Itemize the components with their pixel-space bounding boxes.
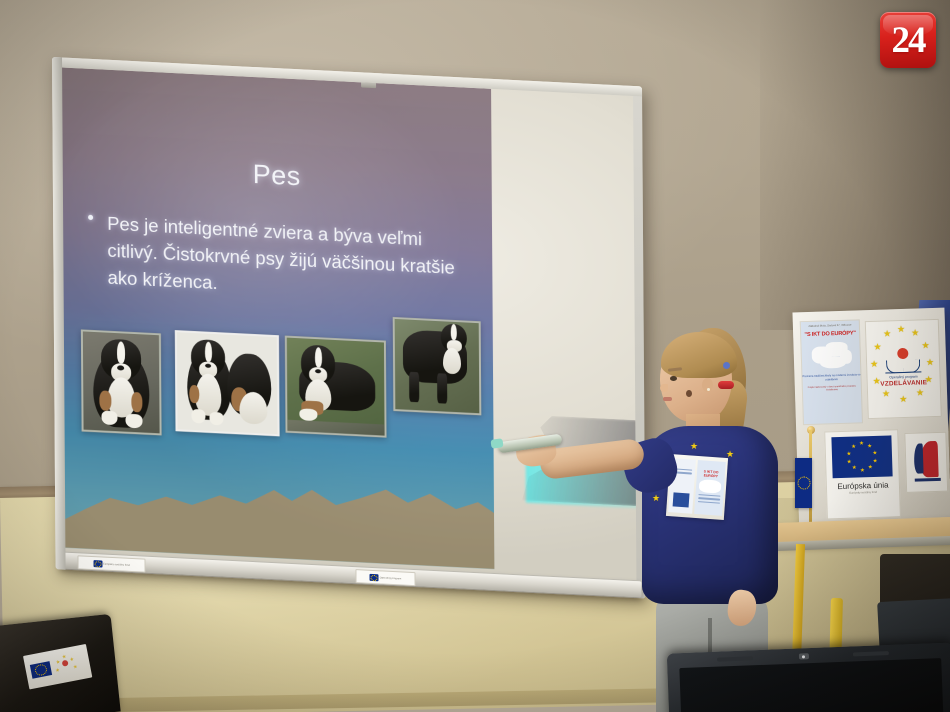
tray-sticker-left-text: Európsky sociálny fond (103, 562, 130, 566)
laptop-foreground-right (667, 642, 950, 712)
eu-flag-mini-icon (93, 560, 102, 567)
slide-photo-strip (73, 303, 494, 449)
tshirt-print-right-panel: S IKT DO EURÓPY (694, 460, 726, 516)
tray-sticker-left: Európsky sociálny fond (77, 555, 145, 572)
tshirt-print-blue-block (673, 492, 690, 507)
hair-clip (723, 362, 730, 369)
eye (670, 376, 677, 381)
channel-24-logo: 24 (880, 12, 936, 68)
tray-sticker-right-text: Operačný program (380, 576, 402, 580)
shirt-star-icon-3: ★ (652, 494, 660, 503)
shirt-star-icon-4: ★ (690, 442, 698, 451)
earring (707, 388, 710, 391)
tshirt-print-title: S IKT DO EURÓPY (697, 469, 725, 479)
lips (663, 397, 672, 401)
board-clip (361, 80, 376, 88)
whiteboard-surface[interactable]: Pes Pes je inteligentné zviera a býva ve… (61, 67, 636, 580)
hair-tie (718, 381, 734, 389)
laptop-foreground-left: ★ ★ ★ ★ ★ (0, 613, 125, 712)
slide-photo-1 (81, 329, 162, 435)
webcam-icon (799, 653, 809, 659)
whiteboard-frame: Pes Pes je inteligentné zviera a býva ve… (52, 57, 646, 599)
interactive-whiteboard[interactable]: Pes Pes je inteligentné zviera a býva ve… (52, 57, 646, 599)
eu-flag-mini-icon-2 (370, 573, 379, 580)
slide-photo-3 (285, 336, 387, 438)
program-logo-sticker-icon: ★ ★ ★ ★ ★ (53, 653, 78, 677)
slide-photo-4 (393, 317, 482, 415)
bullet-dot-icon (88, 215, 93, 220)
slide-photo-2 (175, 330, 280, 436)
eu-flag-sticker-icon (30, 661, 52, 679)
shirt-star-icon-5: ★ (726, 450, 734, 459)
tray-sticker-right: Operačný program (355, 569, 415, 586)
laptop-screen (679, 658, 943, 712)
logo-24-text: 24 (892, 22, 925, 59)
slide-mountain-graphic (64, 462, 495, 569)
nose (660, 384, 668, 392)
photo-scene: Základná škola, Sadová 27, Vlčkovce "S I… (0, 0, 950, 712)
face-mark (686, 390, 692, 397)
tshirt-print-map-icon (699, 479, 722, 494)
marker-tip (490, 438, 503, 449)
